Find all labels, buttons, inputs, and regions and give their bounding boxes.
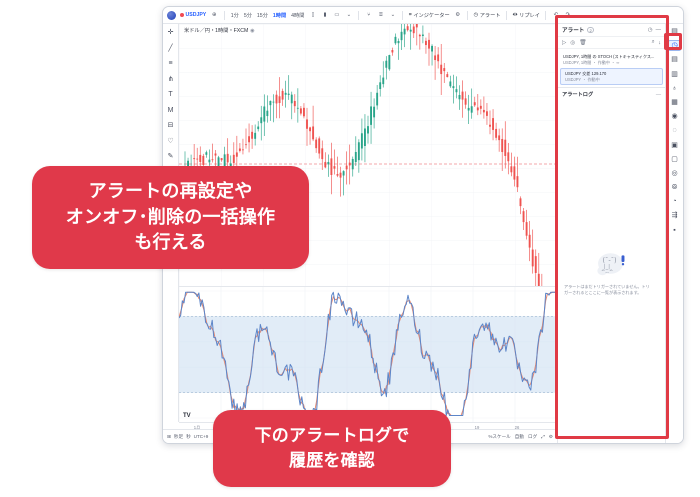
callout-1-line-3: も行える bbox=[134, 230, 206, 256]
alert-log-header: アラートログ — bbox=[558, 87, 665, 101]
fib-icon[interactable]: ⋔ bbox=[165, 74, 177, 85]
oscillator-pane[interactable]: TV bbox=[179, 287, 557, 422]
delete-all-icon[interactable]: 🗑 bbox=[579, 40, 586, 46]
alert-sidebar: アラート 2 ◷ — ▷ ◎ 🗑 ⌕ ↓ USDJPY, 1時間 の STOCH… bbox=[557, 24, 665, 443]
chart-legend-label: 米ドル／円・1時間・FXCM bbox=[184, 27, 248, 34]
redo-icon[interactable]: ↷ bbox=[564, 11, 572, 19]
templates-icon[interactable]: ⌸ bbox=[377, 11, 385, 19]
interval-1m[interactable]: 1分 bbox=[230, 12, 239, 19]
broker-icon[interactable]: ◎ bbox=[668, 168, 681, 179]
alert-panel-toolbar: ▷ ◎ 🗑 ⌕ ↓ bbox=[558, 37, 665, 49]
orders-icon[interactable]: ⇶ bbox=[668, 210, 681, 221]
stop-all-icon[interactable]: ◎ bbox=[570, 40, 575, 46]
ideas-icon[interactable]: ♁ bbox=[668, 83, 681, 94]
replay-label: リプレイ bbox=[519, 12, 540, 19]
interval-15m[interactable]: 15分 bbox=[256, 12, 268, 19]
status-right-1[interactable]: %スケール bbox=[488, 434, 510, 440]
divider bbox=[402, 11, 403, 20]
status-right-2[interactable]: 自動 bbox=[515, 434, 524, 440]
callout-alert-management: アラートの再設定や オンオフ･削除の一括操作 も行える bbox=[32, 166, 309, 269]
calendar-icon[interactable]: ▥ bbox=[668, 69, 681, 80]
alert-count-badge: 2 bbox=[587, 27, 594, 34]
alert-panel-title: アラート bbox=[562, 26, 584, 34]
chevron-down-icon[interactable]: ⌄ bbox=[345, 11, 353, 19]
stochastic-chart bbox=[179, 287, 557, 422]
status-icon-1[interactable]: ⊞ bbox=[167, 434, 171, 440]
trend-line-icon[interactable]: ╱ bbox=[165, 43, 177, 54]
search-icon[interactable]: ⌕ bbox=[652, 39, 655, 46]
empty-state-illustration-icon: (¯-¯) |_| ^--^ bbox=[590, 244, 634, 280]
play-all-icon[interactable]: ▷ bbox=[562, 40, 566, 46]
divider bbox=[506, 11, 507, 20]
hotlist-icon[interactable]: ◉ bbox=[668, 111, 681, 122]
alert-log-empty-state: (¯-¯) |_| ^--^ アラートはまだトリガーされていません。トリ ガーさ… bbox=[558, 101, 665, 443]
eye-icon[interactable]: ◉ bbox=[250, 28, 254, 34]
chat-icon[interactable]: ◌ bbox=[668, 125, 681, 136]
undo-icon[interactable]: ↶ bbox=[552, 11, 560, 19]
alert-log-empty-message: アラートはまだトリガーされていません。トリ ガーされるとここに一覧が表示されます… bbox=[564, 284, 659, 296]
measure-icon[interactable]: ✎ bbox=[165, 151, 177, 162]
text-tool-icon[interactable]: T bbox=[165, 89, 177, 100]
alert-list-item[interactable]: USDJPY, 1時間 の STOCH (ストキャスティクス... USDJPY… bbox=[558, 51, 665, 68]
divider bbox=[358, 11, 359, 20]
svg-text:^--^: ^--^ bbox=[601, 270, 613, 276]
alert-list-item[interactable]: USDJPY 交差 129.170 USDJPY ・ 作動中 bbox=[560, 68, 663, 85]
gear-icon[interactable]: ⚙ bbox=[549, 434, 553, 440]
horizontal-lines-icon[interactable]: ≡ bbox=[165, 58, 177, 69]
symbol-label: USDJPY bbox=[186, 12, 207, 18]
forecast-icon[interactable]: ⊟ bbox=[165, 120, 177, 131]
divider bbox=[467, 11, 468, 20]
callout-2-line-1: 下のアラートログで bbox=[255, 424, 410, 449]
alert-item-title: USDJPY, 1時間 の STOCH (ストキャスティクス... bbox=[563, 54, 660, 60]
pattern-icon[interactable]: M bbox=[165, 105, 177, 116]
compare-icon[interactable]: ⑂ bbox=[365, 11, 373, 19]
alert-button[interactable]: ◷ アラート bbox=[474, 12, 501, 19]
interval-5m[interactable]: 5分 bbox=[243, 12, 252, 19]
screenshot-root: USDJPY ⊕ 1分 5分 15分 1時間 4時間 ▯ ▮ ▭ ⌄ ⑂ ⌸ ⌄… bbox=[0, 0, 700, 497]
chevron-down-icon[interactable]: ⌄ bbox=[389, 11, 397, 19]
interval-4h[interactable]: 4時間 bbox=[291, 12, 305, 19]
candles-icon[interactable]: ▯ bbox=[309, 11, 317, 19]
alert-panel-header: アラート 2 ◷ — bbox=[558, 24, 665, 37]
alert-list: USDJPY, 1時間 の STOCH (ストキャスティクス... USDJPY… bbox=[558, 49, 665, 87]
svg-text:|_|: |_| bbox=[603, 264, 609, 270]
minimize-icon[interactable]: — bbox=[656, 92, 661, 98]
help-circle-icon[interactable]: ◷ bbox=[648, 27, 653, 33]
notifications-icon[interactable]: ⦾ bbox=[668, 182, 681, 193]
sort-icon[interactable]: ↓ bbox=[658, 40, 661, 46]
replay-button[interactable]: ⏴⏵ リプレイ bbox=[512, 12, 539, 19]
status-left-3[interactable]: UTC+9 bbox=[194, 434, 209, 439]
watchlist-icon[interactable]: ▤ bbox=[668, 26, 681, 37]
indicators-icon: ⌗ bbox=[409, 12, 412, 19]
line-icon[interactable]: ▭ bbox=[333, 11, 341, 19]
divider bbox=[224, 11, 225, 20]
bars-icon[interactable]: ▮ bbox=[321, 11, 329, 19]
tradingview-logo-icon[interactable] bbox=[167, 11, 176, 20]
alert-item-subtitle: USDJPY, 1時間 ・ 作動中 ・ ∞ bbox=[563, 60, 660, 66]
alert-item-subtitle: USDJPY ・ 作動中 bbox=[565, 77, 658, 83]
divider bbox=[545, 11, 546, 20]
status-right-3[interactable]: ログ bbox=[528, 434, 537, 440]
private-chat-icon[interactable]: ▢ bbox=[668, 154, 681, 165]
callout-1-line-2: オンオフ･削除の一括操作 bbox=[66, 205, 275, 231]
bell-icon[interactable]: ◔ bbox=[668, 196, 681, 207]
callout-2-line-2: 履歴を確認 bbox=[289, 449, 375, 474]
callout-1-line-1: アラートの再設定や bbox=[89, 179, 253, 205]
minimize-icon[interactable]: — bbox=[656, 27, 661, 33]
indicators-button[interactable]: ⌗ インジケーター bbox=[409, 12, 450, 19]
callout-alert-log: 下のアラートログで 履歴を確認 bbox=[213, 410, 451, 487]
replay-icon: ⏴⏵ bbox=[512, 12, 517, 19]
apps-icon[interactable]: ▪ bbox=[668, 225, 681, 236]
chart-legend[interactable]: 米ドル／円・1時間・FXCM ◉ bbox=[184, 27, 255, 34]
add-symbol-icon[interactable]: ⊕ bbox=[210, 11, 218, 19]
data-window-icon[interactable]: ▦ bbox=[668, 97, 681, 108]
status-left-2[interactable]: 秒 bbox=[186, 434, 191, 440]
gear-icon[interactable]: ⚙ bbox=[454, 11, 462, 19]
alert-log-title: アラートログ bbox=[562, 91, 593, 98]
status-left-1[interactable]: 秒足 bbox=[174, 434, 183, 440]
alert-clock-icon[interactable]: ◷ bbox=[668, 40, 681, 51]
top-toolbar: USDJPY ⊕ 1分 5分 15分 1時間 4時間 ▯ ▮ ▭ ⌄ ⑂ ⌸ ⌄… bbox=[163, 7, 683, 24]
symbol-dot-icon bbox=[180, 13, 184, 17]
symbol-button[interactable]: USDJPY bbox=[180, 12, 206, 18]
interval-1h[interactable]: 1時間 bbox=[272, 12, 286, 19]
shapes-icon[interactable]: ♡ bbox=[165, 136, 177, 147]
alert-clock-icon: ◷ bbox=[474, 12, 479, 18]
fullscreen-icon[interactable]: ⤢ bbox=[541, 434, 545, 439]
empty-message-line-2: ガーされるとここに一覧が表示されます。 bbox=[564, 290, 659, 296]
stream-icon[interactable]: ▣ bbox=[668, 140, 681, 151]
cursor-crosshair-icon[interactable]: ✛ bbox=[165, 27, 177, 38]
alert-label: アラート bbox=[480, 12, 501, 19]
indicators-label: インジケーター bbox=[413, 12, 449, 19]
tradingview-watermark: TV bbox=[183, 413, 191, 419]
news-icon[interactable]: ▤ bbox=[668, 54, 681, 65]
right-icon-rail: ▤ ◷ ▤ ▥ ♁ ▦ ◉ ◌ ▣ ▢ ◎ ⦾ ◔ ⇶ ▪ bbox=[665, 24, 683, 443]
